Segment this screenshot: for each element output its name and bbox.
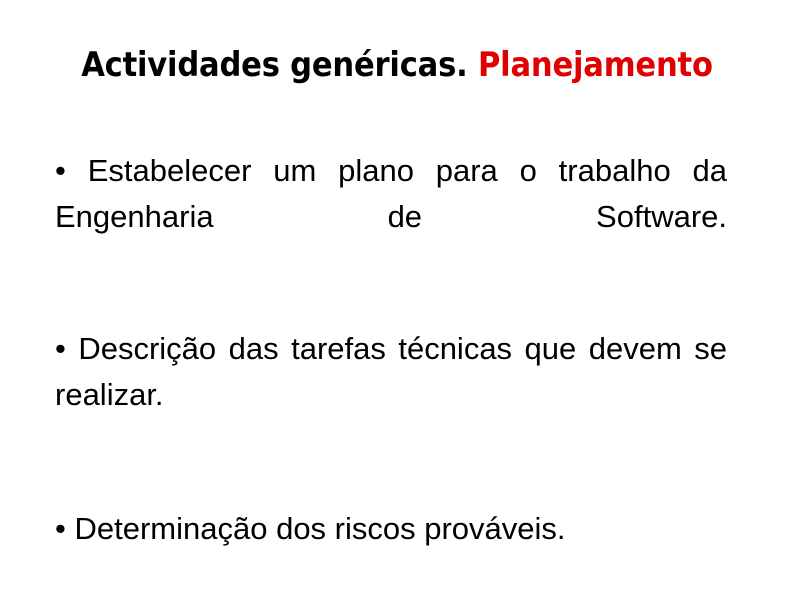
slide-title-red-text: Planejamento <box>478 45 713 85</box>
bullet-marker-icon: • <box>55 331 66 366</box>
bullet-marker-icon: • <box>55 511 66 546</box>
bullet-item-3: • Determinação dos riscos prováveis. <box>55 506 727 552</box>
slide-title-black-text: Actividades genéricas. <box>81 45 467 85</box>
slide-canvas: Actividades genéricas. Planejamento • Es… <box>0 0 794 595</box>
bullet-text-2: Descrição das tarefas técnicas que devem… <box>55 331 727 412</box>
slide-body: • Estabelecer um plano para o trabalho d… <box>55 148 727 552</box>
bullet-marker-icon: • <box>55 153 66 188</box>
slide-title: Actividades genéricas. Planejamento <box>0 44 794 86</box>
bullet-text-3: Determinação dos riscos prováveis. <box>74 511 565 546</box>
bullet-item-2: • Descrição das tarefas técnicas que dev… <box>55 326 727 464</box>
bullet-item-1: • Estabelecer um plano para o trabalho d… <box>55 148 727 286</box>
bullet-text-1: Estabelecer um plano para o trabalho da … <box>55 153 727 234</box>
